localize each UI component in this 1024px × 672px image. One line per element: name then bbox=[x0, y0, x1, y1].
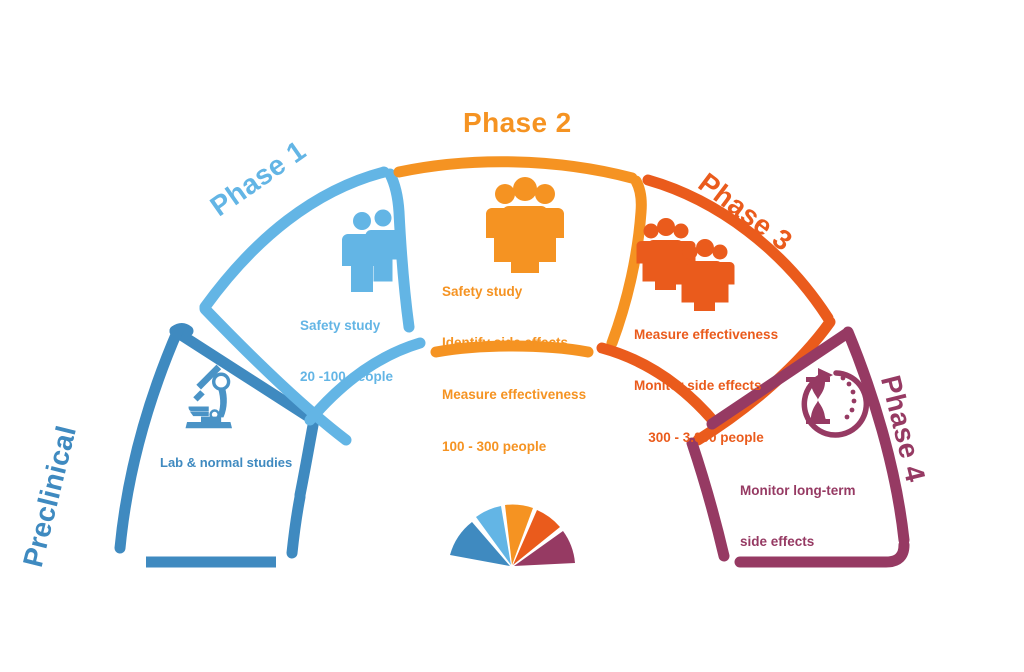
preclinical-right-side-lower bbox=[292, 497, 300, 553]
phase2-outer-arc bbox=[399, 162, 632, 178]
phase-2-line-2: Identify side effects bbox=[442, 334, 586, 351]
stage-body-preclinical: Lab & normal studies bbox=[160, 455, 292, 470]
stage-body-phase-2: Safety study Identify side effects Measu… bbox=[442, 248, 586, 490]
hourglass-clock-icon bbox=[804, 368, 866, 435]
preclinical-right-side-upper bbox=[300, 420, 314, 495]
phase-1-line-2: 20 -100 people bbox=[300, 368, 393, 385]
phase-1-line-1: Safety study bbox=[300, 317, 393, 334]
stage-body-phase-4: Monitor long-term side effects bbox=[740, 447, 855, 585]
color-fan-legend bbox=[450, 505, 575, 566]
stage-body-phase-1: Safety study 20 -100 people bbox=[300, 282, 393, 420]
phase-3-line-1: Measure effectiveness bbox=[634, 326, 778, 343]
phase-4-line-2: side effects bbox=[740, 533, 855, 550]
stage-title-phase-2: Phase 2 bbox=[463, 106, 572, 139]
phase-2-line-1: Safety study bbox=[442, 283, 586, 300]
phase-4-line-1: Monitor long-term bbox=[740, 482, 855, 499]
phase-3-line-3: 300 - 3.000 people bbox=[634, 429, 778, 446]
microscope-icon bbox=[186, 365, 233, 429]
sector-preclinical[interactable] bbox=[120, 329, 314, 563]
phase-2-line-4: 100 - 300 people bbox=[442, 438, 586, 455]
preclinical-left-side bbox=[120, 330, 178, 548]
infographic-canvas: Preclinical Lab & normal studies Phase 1… bbox=[0, 0, 1024, 672]
phase-2-line-3: Measure effectiveness bbox=[442, 386, 586, 403]
two-people-icon bbox=[342, 210, 401, 293]
phase-3-line-2: Monitor side effects bbox=[634, 377, 778, 394]
